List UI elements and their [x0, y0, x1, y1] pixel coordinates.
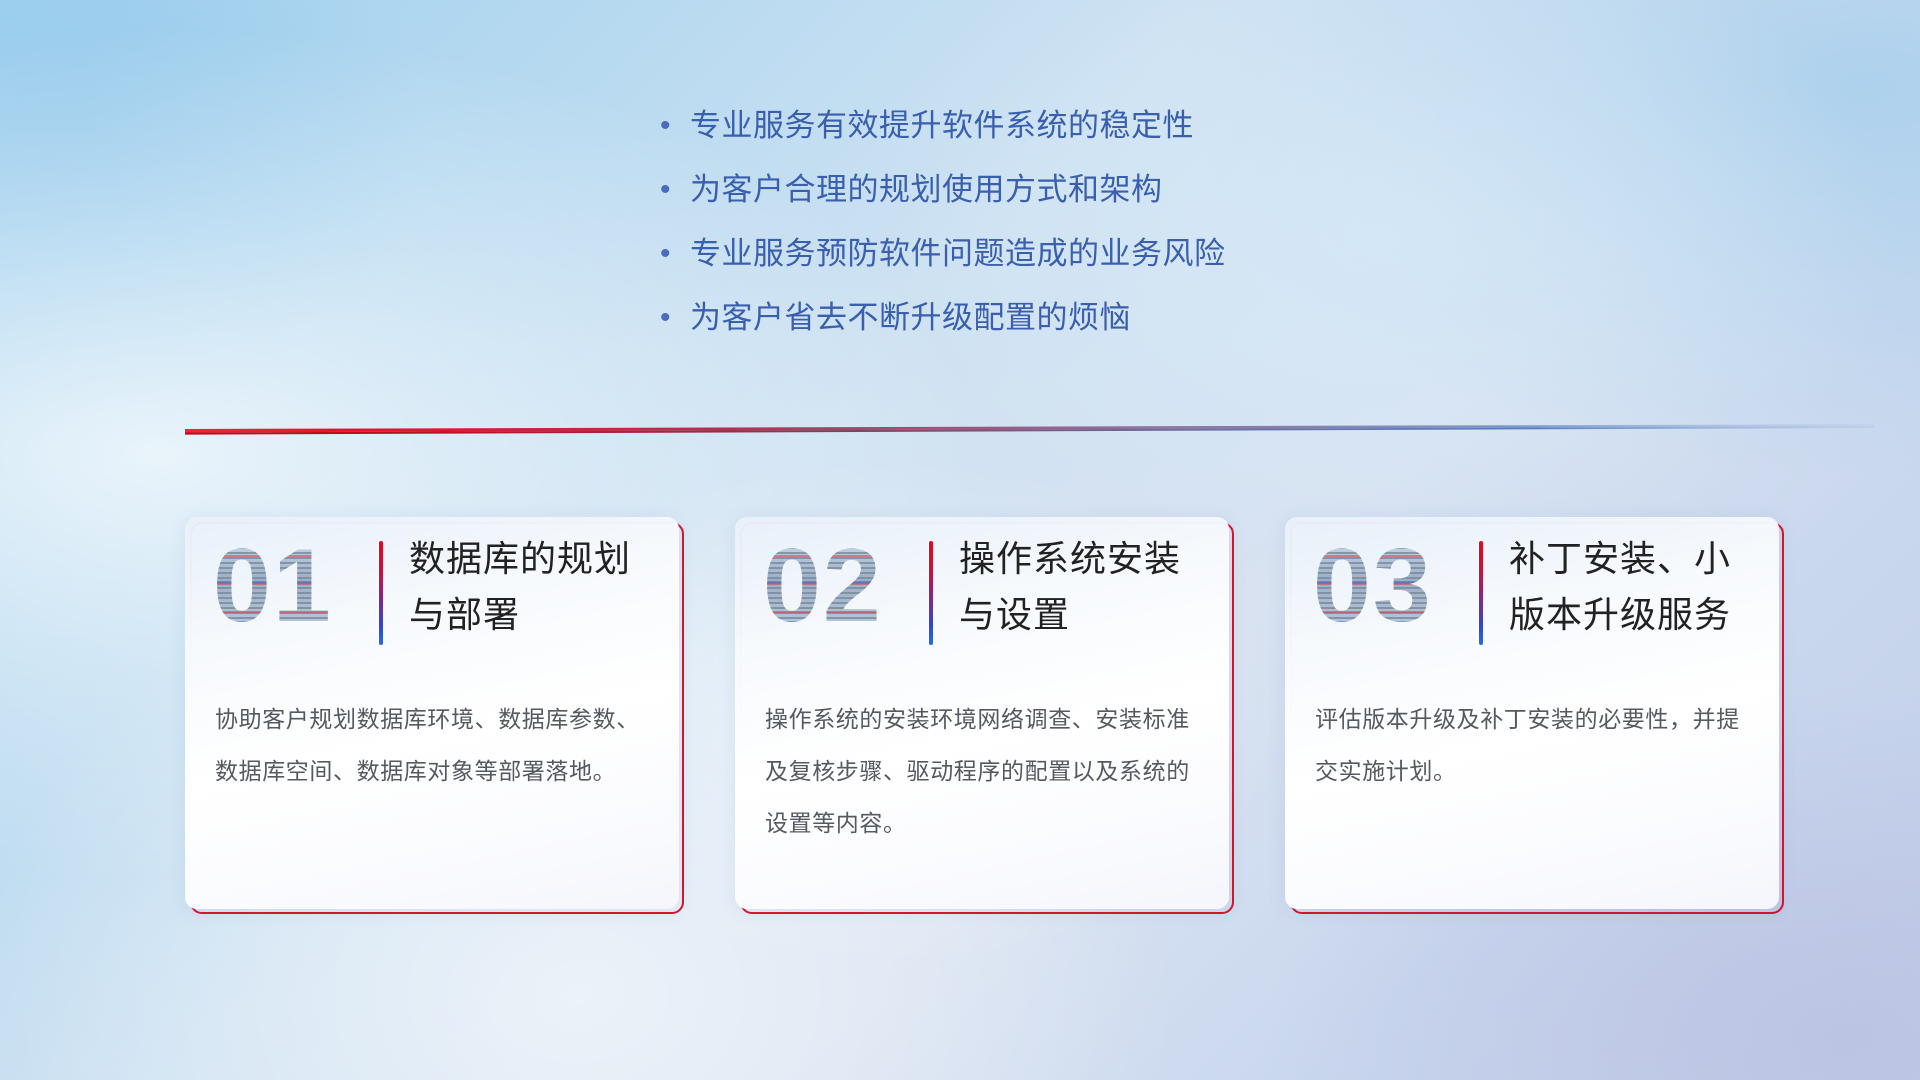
card-number: 01 [213, 527, 333, 645]
bullet-text: 专业服务有效提升软件系统的稳定性 [690, 105, 1194, 147]
divider-wedge-icon [185, 416, 1875, 438]
card-body-text: 操作系统的安装环境网络调查、安装标准及复核步骤、驱动程序的配置以及系统的设置等内… [765, 693, 1201, 849]
card-03[interactable]: 03 03 补丁安装、小版本升级服务 评估版本升级及补丁安装的必要性，并提交实施… [1285, 517, 1779, 909]
bullet-dot-icon: • [660, 169, 690, 211]
card-surface: 03 03 补丁安装、小版本升级服务 评估版本升级及补丁安装的必要性，并提交实施… [1285, 517, 1779, 909]
bullet-dot-icon: • [660, 105, 690, 147]
card-02[interactable]: 02 02 操作系统安装与设置 操作系统的安装环境网络调查、安装标准及复核步骤、… [735, 517, 1229, 909]
card-header: 01 01 数据库的规划与部署 [185, 517, 679, 663]
bullet-text: 专业服务预防软件问题造成的业务风险 [690, 233, 1226, 275]
bullet-text: 为客户省去不断升级配置的烦恼 [690, 297, 1131, 339]
bullet-dot-icon: • [660, 297, 690, 339]
card-accent-bar [1479, 541, 1483, 645]
bullet-item: • 专业服务有效提升软件系统的稳定性 [660, 105, 1226, 169]
card-title: 补丁安装、小版本升级服务 [1509, 531, 1767, 643]
card-row: 01 01 数据库的规划与部署 协助客户规划数据库环境、数据库参数、数据库空间、… [0, 517, 1920, 917]
bullet-list: • 专业服务有效提升软件系统的稳定性 • 为客户合理的规划使用方式和架构 • 专… [660, 105, 1226, 361]
card-number: 02 [763, 527, 883, 645]
card-title: 操作系统安装与设置 [959, 531, 1217, 643]
card-accent-bar [379, 541, 383, 645]
card-body-text: 协助客户规划数据库环境、数据库参数、数据库空间、数据库对象等部署落地。 [215, 693, 651, 797]
bullet-item: • 为客户合理的规划使用方式和架构 [660, 169, 1226, 233]
card-surface: 01 01 数据库的规划与部署 协助客户规划数据库环境、数据库参数、数据库空间、… [185, 517, 679, 909]
card-header: 02 02 操作系统安装与设置 [735, 517, 1229, 663]
card-accent-bar [929, 541, 933, 645]
bullet-item: • 专业服务预防软件问题造成的业务风险 [660, 233, 1226, 297]
bullet-text: 为客户合理的规划使用方式和架构 [690, 169, 1163, 211]
bullet-dot-icon: • [660, 233, 690, 275]
card-number: 03 [1313, 527, 1433, 645]
bullet-item: • 为客户省去不断升级配置的烦恼 [660, 297, 1226, 361]
card-01[interactable]: 01 01 数据库的规划与部署 协助客户规划数据库环境、数据库参数、数据库空间、… [185, 517, 679, 909]
card-surface: 02 02 操作系统安装与设置 操作系统的安装环境网络调查、安装标准及复核步骤、… [735, 517, 1229, 909]
card-body-text: 评估版本升级及补丁安装的必要性，并提交实施计划。 [1315, 693, 1751, 797]
card-title: 数据库的规划与部署 [409, 531, 667, 643]
card-header: 03 03 补丁安装、小版本升级服务 [1285, 517, 1779, 663]
section-divider [185, 416, 1875, 438]
